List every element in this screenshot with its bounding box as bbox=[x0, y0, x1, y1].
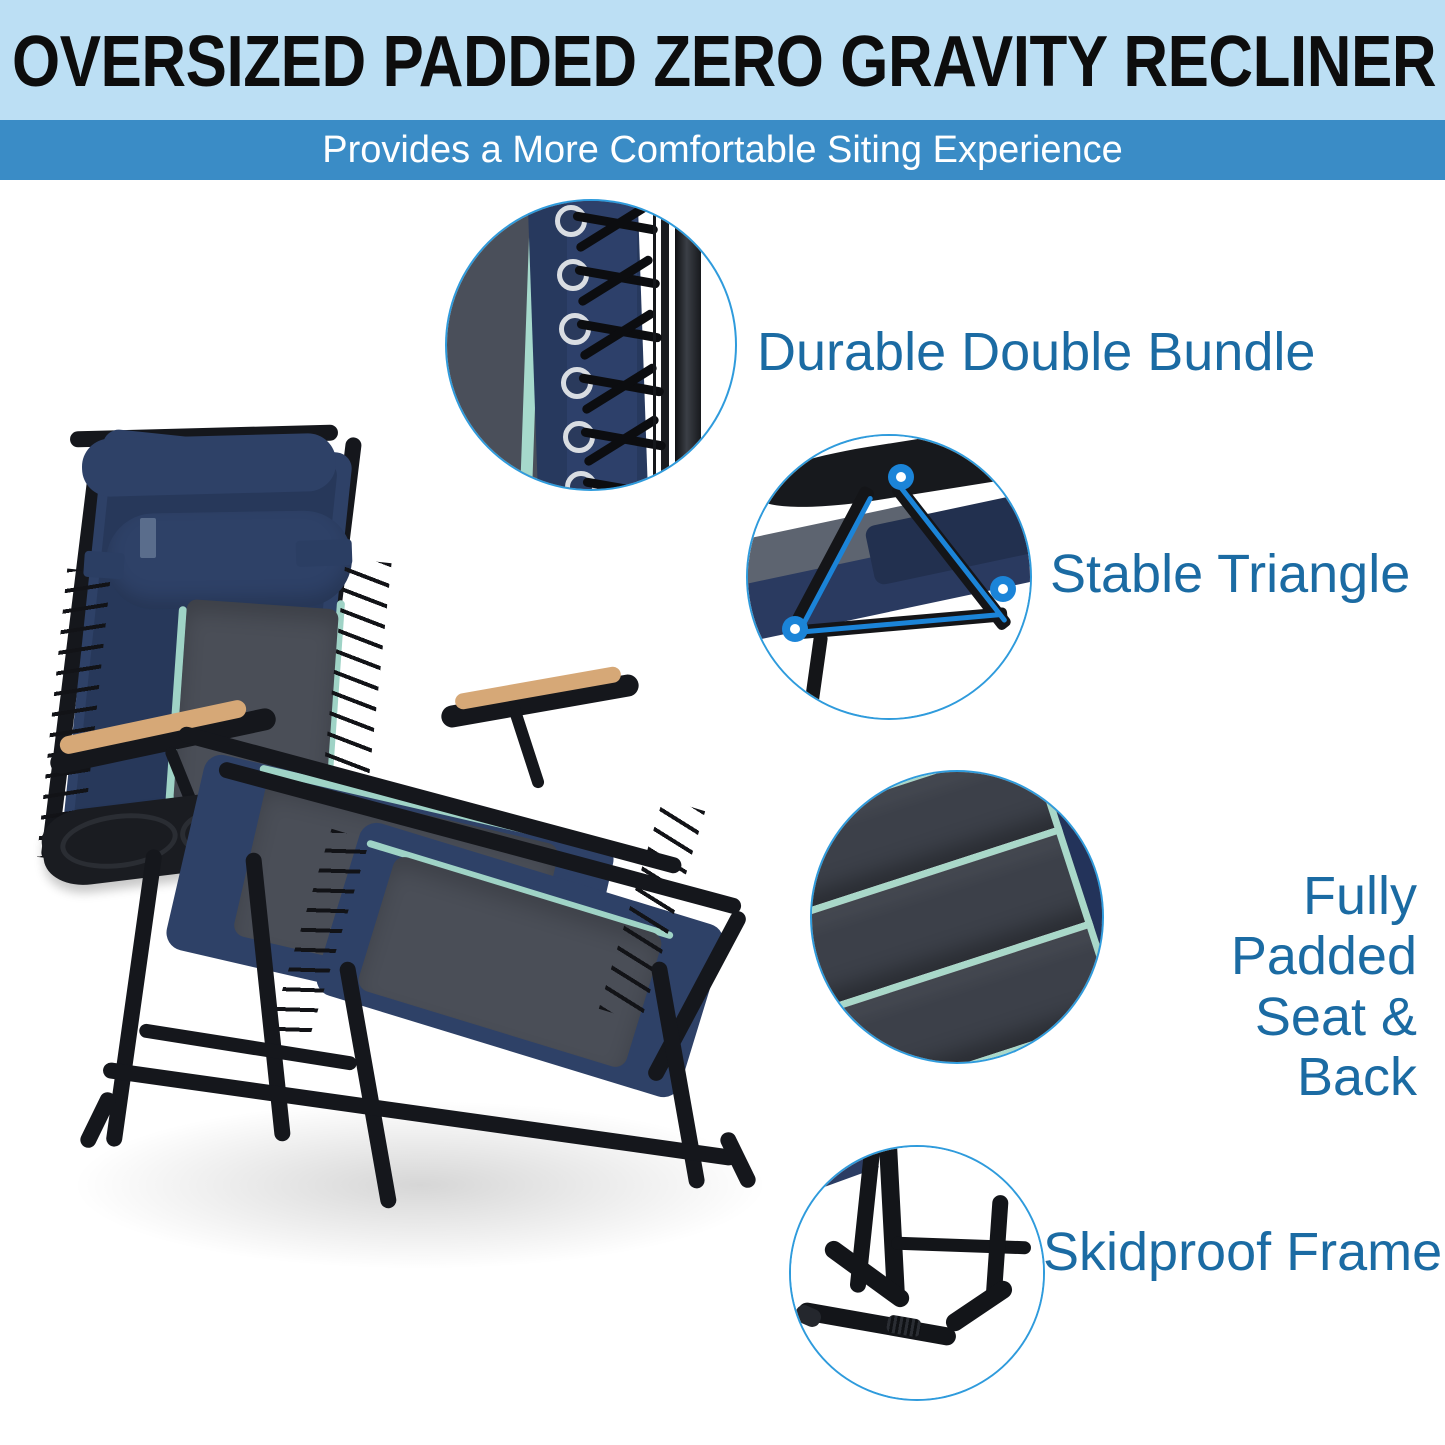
page-subtitle: Provides a More Comfortable Siting Exper… bbox=[0, 120, 1445, 180]
triangle-node-top bbox=[888, 464, 914, 490]
callout-circle-stable-triangle bbox=[748, 436, 1030, 718]
bungee-cord-loop bbox=[653, 201, 656, 489]
headrest-strap-right bbox=[296, 539, 353, 567]
callout-circle-skidproof-frame bbox=[791, 1147, 1043, 1399]
cushion-closeup-photo bbox=[812, 772, 1102, 1062]
product-hero-image bbox=[30, 400, 830, 1280]
cushion-channels bbox=[812, 772, 1102, 1062]
headrest-label-tag bbox=[140, 518, 156, 558]
infographic-page: OVERSIZED PADDED ZERO GRAVITY RECLINER P… bbox=[0, 0, 1445, 1445]
feature-label-skidproof-frame: Skidproof Frame bbox=[1043, 1222, 1442, 1282]
feature-label-fully-padded: Fully Padded Seat & Back bbox=[1127, 866, 1417, 1108]
triangle-node-right bbox=[990, 576, 1016, 602]
callout-circle-fully-padded bbox=[812, 772, 1102, 1062]
feature-label-stable-triangle: Stable Triangle bbox=[1050, 544, 1410, 604]
chair-ground-shadow bbox=[70, 1100, 770, 1270]
bungee-closeup-photo bbox=[447, 201, 735, 489]
triangle-node-left bbox=[782, 616, 808, 642]
triangle-closeup-photo bbox=[748, 436, 1030, 718]
feature-label-durable-double-bundle: Durable Double Bundle bbox=[757, 322, 1315, 382]
frame-foot-closeup-photo bbox=[791, 1147, 1043, 1399]
page-title: OVERSIZED PADDED ZERO GRAVITY RECLINER bbox=[12, 18, 1236, 106]
base-cross-bar-front bbox=[138, 1023, 357, 1071]
frame-tube bbox=[675, 201, 701, 489]
backrest-top-roll bbox=[81, 433, 336, 498]
callout-circle-durable-double-bundle bbox=[447, 201, 735, 489]
